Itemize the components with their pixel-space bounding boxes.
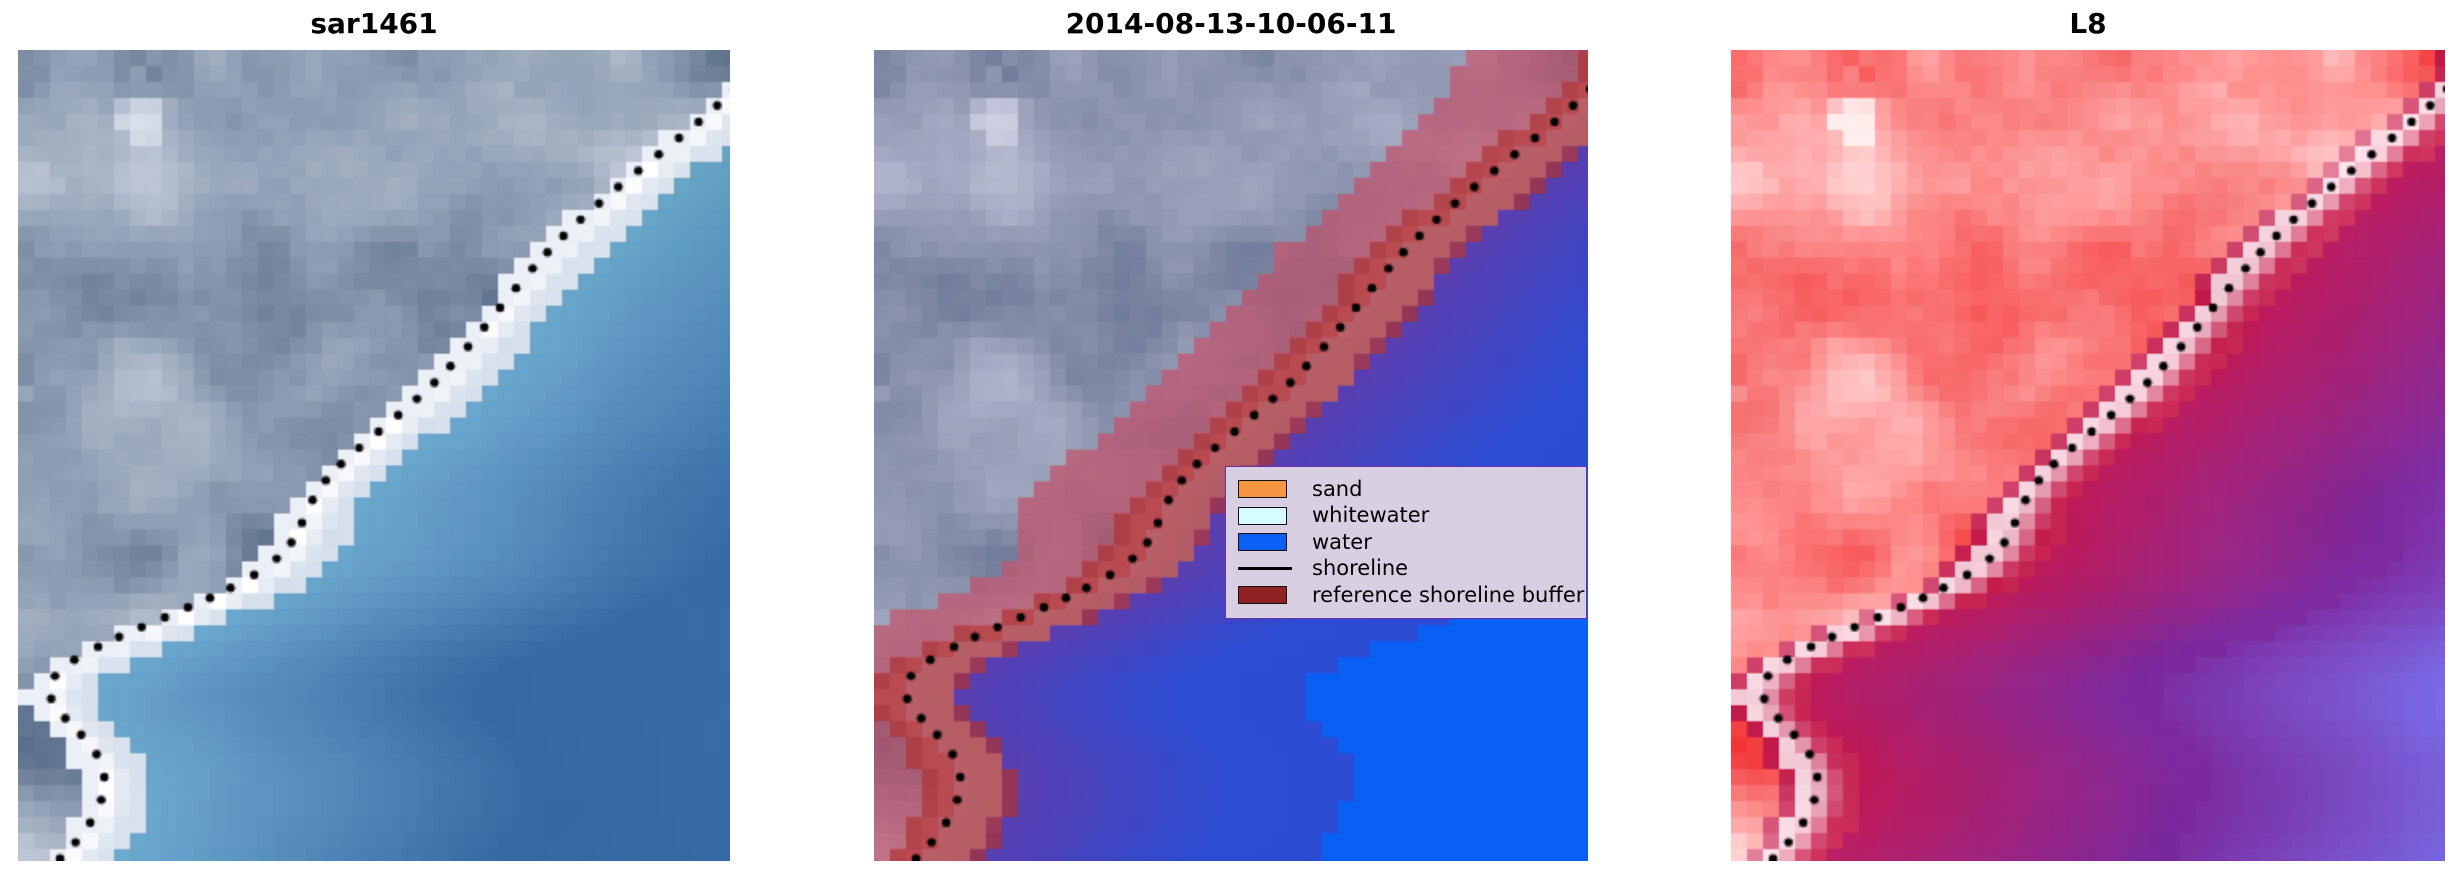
legend-item-reference-buffer: reference shoreline buffer (1238, 582, 1576, 609)
legend-swatch-sand (1238, 480, 1287, 498)
legend-label-water: water (1312, 532, 1372, 553)
legend-swatch-reference-buffer-wrap (1238, 586, 1312, 604)
panel-sar1461: sar1461 (18, 50, 730, 861)
classified-image (874, 50, 1588, 861)
satellite-image-rgb (18, 50, 730, 861)
legend-label-reference-buffer: reference shoreline buffer (1312, 585, 1584, 606)
legend-item-whitewater: whitewater (1238, 503, 1576, 530)
legend-line-shoreline (1238, 567, 1292, 570)
legend-line-shoreline-wrap (1238, 567, 1312, 570)
panel-title-l8: L8 (1731, 7, 2445, 40)
legend-label-sand: sand (1312, 479, 1362, 500)
panel-title-classification: 2014-08-13-10-06-11 (874, 7, 1588, 40)
legend-swatch-sand-wrap (1238, 480, 1312, 498)
legend-item-sand: sand (1238, 476, 1576, 503)
panel-l8: L8 (1731, 50, 2445, 861)
panel-classification: 2014-08-13-10-06-11 (874, 50, 1588, 861)
legend-swatch-water-wrap (1238, 533, 1312, 551)
legend-item-water: water (1238, 529, 1576, 556)
index-image-l8 (1731, 50, 2445, 861)
legend-label-whitewater: whitewater (1312, 505, 1429, 526)
legend-item-shoreline: shoreline (1238, 556, 1576, 583)
map-legend: sand whitewater water shoreline referenc (1225, 466, 1587, 619)
legend-swatch-water (1238, 533, 1287, 551)
legend-swatch-reference-buffer (1238, 586, 1287, 604)
figure-root: sar1461 2014-08-13-10-06-11 L8 sand whit… (0, 0, 2460, 877)
panel-title-sar1461: sar1461 (18, 7, 730, 40)
legend-swatch-whitewater-wrap (1238, 507, 1312, 525)
legend-label-shoreline: shoreline (1312, 558, 1408, 579)
legend-swatch-whitewater (1238, 507, 1287, 525)
